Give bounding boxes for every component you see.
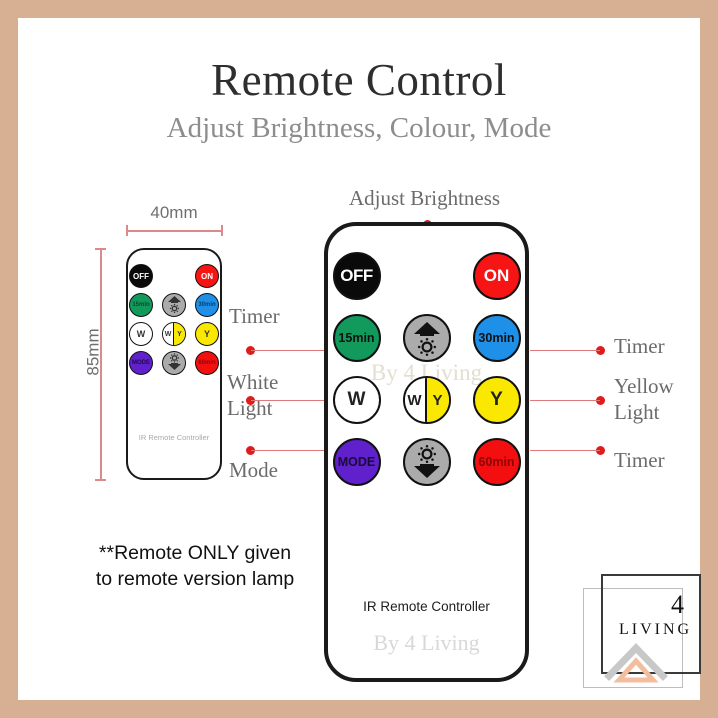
- annotation-line-left-1: [251, 350, 326, 351]
- mode-button[interactable]: MODE: [333, 438, 381, 486]
- timer-30min-button[interactable]: 30min: [473, 314, 521, 362]
- small-button-row-3: W W Y Y: [128, 322, 220, 346]
- brightness-up-button-small[interactable]: [162, 293, 186, 317]
- chevron-up-sun-icon-small: [166, 295, 183, 315]
- house-icon: [603, 636, 669, 689]
- remote-large[interactable]: By 4 Living OFF ON 15min: [324, 222, 529, 682]
- brand-logo: 4 LIVING: [583, 574, 701, 692]
- annotation-yellow-light-right: Yellow Light: [614, 374, 674, 425]
- spacer-small: [162, 264, 186, 288]
- annotation-adjust-brightness: Adjust Brightness: [349, 186, 500, 212]
- white-half-label-small: W: [163, 323, 174, 345]
- timer-30min-button-small[interactable]: 30min: [195, 293, 219, 317]
- annotation-line-left-2: [251, 400, 326, 401]
- button-row-1: OFF ON: [328, 252, 525, 300]
- annotation-line-right-3: [530, 450, 600, 451]
- button-row-2: 15min: [328, 314, 525, 362]
- power-off-button-small[interactable]: OFF: [129, 264, 153, 288]
- brightness-up-button[interactable]: [403, 314, 451, 362]
- logo-number: 4: [671, 590, 684, 620]
- annotation-line-right-1: [530, 350, 600, 351]
- poster-canvas: Remote Control Adjust Brightness, Colour…: [18, 18, 700, 700]
- power-on-button[interactable]: ON: [473, 252, 521, 300]
- mode-button-small[interactable]: MODE: [129, 351, 153, 375]
- dimension-line-width: [126, 230, 222, 232]
- dimension-tick-left: [126, 225, 128, 236]
- chevron-up-sun-icon: [410, 320, 444, 356]
- spacer: [403, 252, 451, 300]
- sun-chevron-down-icon-small: [166, 353, 183, 373]
- power-on-button-small[interactable]: ON: [195, 264, 219, 288]
- remote-large-watermark: By 4 Living: [328, 630, 525, 656]
- annotation-yellow-light-line2: Light: [614, 400, 674, 426]
- annotation-mode-left: Mode: [229, 458, 278, 484]
- brightness-down-button[interactable]: [403, 438, 451, 486]
- yellow-half-label-small: Y: [174, 323, 185, 345]
- page-subtitle: Adjust Brightness, Colour, Mode: [18, 112, 700, 145]
- annotation-timer-right-1: Timer: [614, 334, 665, 360]
- yellow-half-label: Y: [427, 378, 449, 422]
- disclaimer-line-1: **Remote ONLY given: [60, 540, 330, 566]
- annotation-yellow-light-line1: Yellow: [614, 374, 674, 400]
- white-light-button-small[interactable]: W: [129, 322, 153, 346]
- dimension-tick-bottom: [95, 479, 106, 481]
- yellow-light-button[interactable]: Y: [473, 376, 521, 424]
- white-yellow-mix-button-small[interactable]: W Y: [162, 322, 186, 346]
- timer-60min-button-small[interactable]: 60min: [195, 351, 219, 375]
- button-row-3: W W Y Y: [328, 376, 525, 424]
- small-button-row-1: OFF ON: [128, 264, 220, 288]
- power-off-button[interactable]: OFF: [333, 252, 381, 300]
- remote-small-footer: IR Remote Controller: [128, 433, 220, 442]
- timer-15min-button[interactable]: 15min: [333, 314, 381, 362]
- dimension-tick-top: [95, 248, 106, 250]
- annotation-white-light-line1: White: [227, 370, 278, 396]
- dimension-tick-right: [221, 225, 223, 236]
- brightness-down-button-small[interactable]: [162, 351, 186, 375]
- button-row-4: MODE: [328, 438, 525, 486]
- annotation-line-left-3: [251, 450, 326, 451]
- white-half-label: W: [405, 378, 427, 422]
- disclaimer-line-2: to remote version lamp: [60, 566, 330, 592]
- remote-small[interactable]: OFF ON 15min: [126, 248, 222, 480]
- annotation-timer-left: Timer: [229, 304, 280, 330]
- annotation-line-right-2: [530, 400, 600, 401]
- timer-15min-button-small[interactable]: 15min: [129, 293, 153, 317]
- button-pad-large: OFF ON 15min: [328, 252, 525, 500]
- remote-large-footer: IR Remote Controller: [328, 599, 525, 614]
- dimension-label-width: 40mm: [126, 203, 222, 223]
- page-title: Remote Control: [18, 54, 700, 106]
- dimension-line-height: [100, 248, 102, 480]
- small-button-row-2: 15min: [128, 293, 220, 317]
- yellow-light-button-small[interactable]: Y: [195, 322, 219, 346]
- annotation-timer-right-2: Timer: [614, 448, 665, 474]
- small-button-row-4: MODE: [128, 351, 220, 375]
- disclaimer-note: **Remote ONLY given to remote version la…: [60, 540, 330, 593]
- timer-60min-button[interactable]: 60min: [473, 438, 521, 486]
- sun-chevron-down-icon: [410, 444, 444, 480]
- button-pad-small: OFF ON 15min: [128, 264, 220, 380]
- white-yellow-mix-button[interactable]: W Y: [403, 376, 451, 424]
- white-light-button[interactable]: W: [333, 376, 381, 424]
